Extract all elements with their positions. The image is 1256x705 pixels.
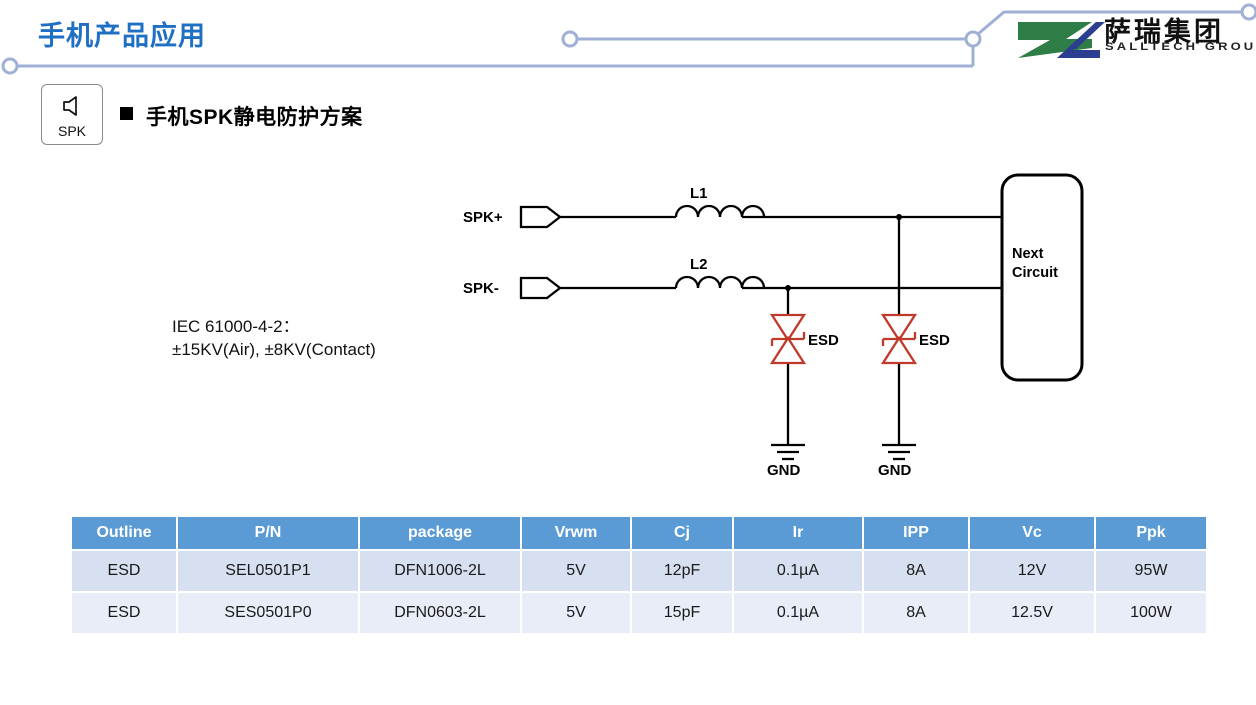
deco-node-left [3,59,17,73]
iec-note-line-1: IEC 61000-4-2： [172,312,300,337]
next-circuit-line2: Circuit [1012,265,1058,281]
column-header-cj: Cj [632,517,732,549]
esd-diode-left-symbol [772,315,804,363]
inductor-l1-label: L1 [690,185,708,202]
esd-label-right: ESD [919,332,950,349]
ground-symbol-right [882,445,916,459]
cell-pn: SES0501P0 [178,593,358,633]
cell-ppk: 95W [1096,551,1206,591]
connector-spk-plus [521,207,560,227]
inductor-l1-coil [676,206,764,217]
column-header-vrwm: Vrwm [522,517,630,549]
gnd-label-left: GND [767,462,801,479]
spec-table: Outline P/N package Vrwm Cj Ir IPP Vc Pp… [70,515,1208,635]
cell-outline: ESD [72,593,176,633]
table-row: ESD SES0501P0 DFN0603-2L 5V 15pF 0.1µA 8… [72,593,1206,633]
cell-cj: 15pF [632,593,732,633]
cell-vc: 12V [970,551,1094,591]
section-bullet-icon [120,107,133,120]
spk-chip-label: SPK [42,123,102,139]
junction-dot-right [896,214,902,220]
column-header-ir: Ir [734,517,862,549]
column-header-ipp: IPP [864,517,968,549]
column-header-package: package [360,517,520,549]
table-header-row: Outline P/N package Vrwm Cj Ir IPP Vc Pp… [72,517,1206,549]
column-header-outline: Outline [72,517,176,549]
port-label-spk-plus: SPK+ [463,209,503,226]
column-header-pn: P/N [178,517,358,549]
cell-cj: 12pF [632,551,732,591]
inductor-l2-label: L2 [690,256,708,273]
table-row: ESD SEL0501P1 DFN1006-2L 5V 12pF 0.1µA 8… [72,551,1206,591]
cell-vrwm: 5V [522,593,630,633]
deco-node-junction [966,32,980,46]
ground-symbol-left [771,445,805,459]
cell-package: DFN1006-2L [360,551,520,591]
cell-outline: ESD [72,551,176,591]
inductor-l2-coil [676,277,764,288]
page-title: 手机产品应用 [38,14,206,53]
esd-diode-right-symbol [883,315,915,363]
cell-ir: 0.1µA [734,593,862,633]
esd-label-left: ESD [808,332,839,349]
cell-ipp: 8A [864,551,968,591]
spk-chip: SPK [41,84,103,145]
section-title: 手机SPK静电防护方案 [146,101,363,131]
cell-vc: 12.5V [970,593,1094,633]
deco-node-middle [563,32,577,46]
cell-vrwm: 5V [522,551,630,591]
next-circuit-line1: Next [1012,246,1044,262]
connector-spk-minus [521,278,560,298]
brand-name-en: SALLTECH GROUP [1105,40,1256,52]
cell-ppk: 100W [1096,593,1206,633]
cell-ir: 0.1µA [734,551,862,591]
port-label-spk-minus: SPK- [463,280,499,297]
cell-ipp: 8A [864,593,968,633]
iec-note-line-2: ±15KV(Air), ±8KV(Contact) [172,340,376,360]
junction-dot-left [785,285,791,291]
column-header-vc: Vc [970,517,1094,549]
gnd-label-right: GND [878,462,912,479]
cell-pn: SEL0501P1 [178,551,358,591]
speaker-icon [60,95,84,117]
cell-package: DFN0603-2L [360,593,520,633]
column-header-ppk: Ppk [1096,517,1206,549]
